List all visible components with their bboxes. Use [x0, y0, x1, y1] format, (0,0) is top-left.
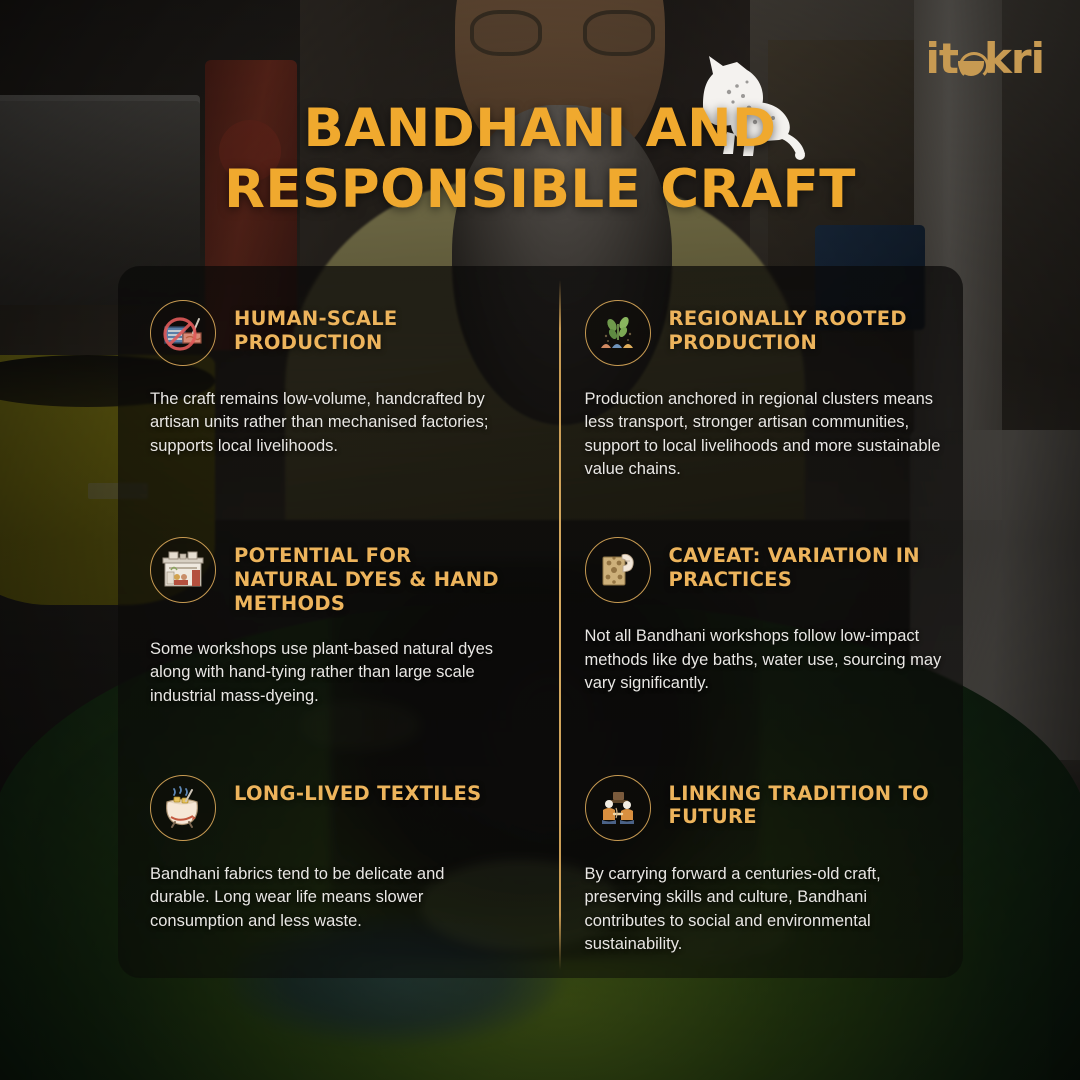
- card-title: POTENTIAL FOR NATURAL DYES & HAND METHOD…: [234, 537, 503, 615]
- card-title: CAVEAT: VARIATION IN PRACTICES: [669, 537, 944, 592]
- card-long-lived-textiles: LONG-LIVED TEXTILES Bandhani fabrics ten…: [118, 741, 541, 978]
- title-line-1: BANDHANI AND: [150, 98, 930, 159]
- card-potential-natural-dyes: POTENTIAL FOR NATURAL DYES & HAND METHOD…: [118, 503, 541, 740]
- card-title: REGIONALLY ROOTED PRODUCTION: [669, 300, 944, 355]
- two-artisans-icon: [585, 775, 651, 841]
- card-body: Bandhani fabrics tend to be delicate and…: [150, 863, 503, 933]
- cards-grid: HUMAN-SCALE PRODUCTION The craft remains…: [118, 266, 963, 978]
- logo-text-it: it: [925, 34, 957, 83]
- no-factory-machine-icon: [150, 300, 216, 366]
- logo-text-kri: kri: [984, 34, 1044, 83]
- content-panel: HUMAN-SCALE PRODUCTION The craft remains…: [118, 266, 963, 978]
- infographic-poster: itkri BANDHANI AND RESPONSIBLE CRAFT: [0, 0, 1080, 1080]
- card-header: LINKING TRADITION TO FUTURE: [585, 775, 944, 841]
- workshop-building-icon: [150, 537, 216, 603]
- card-header: HUMAN-SCALE PRODUCTION: [150, 300, 503, 366]
- card-header: LONG-LIVED TEXTILES: [150, 775, 503, 841]
- seedling-soil-icon: [585, 300, 651, 366]
- brand-logo-itokri[interactable]: itkri: [925, 38, 1044, 80]
- card-body: By carrying forward a centuries-old craf…: [585, 863, 944, 957]
- card-title: HUMAN-SCALE PRODUCTION: [234, 300, 503, 355]
- card-header: REGIONALLY ROOTED PRODUCTION: [585, 300, 944, 366]
- card-header: CAVEAT: VARIATION IN PRACTICES: [585, 537, 944, 603]
- title-line-2: RESPONSIBLE CRAFT: [150, 159, 930, 220]
- card-body: Production anchored in regional clusters…: [585, 388, 944, 482]
- card-linking-tradition-future: LINKING TRADITION TO FUTURE By carrying …: [541, 741, 964, 978]
- basket-o-icon: [958, 50, 984, 76]
- hand-holding-fabric-icon: [585, 537, 651, 603]
- card-title: LONG-LIVED TEXTILES: [234, 775, 482, 806]
- card-regionally-rooted-production: REGIONALLY ROOTED PRODUCTION Production …: [541, 266, 964, 503]
- card-body: Some workshops use plant-based natural d…: [150, 638, 503, 708]
- card-header: POTENTIAL FOR NATURAL DYES & HAND METHOD…: [150, 537, 503, 615]
- steaming-dye-pot-icon: [150, 775, 216, 841]
- card-body: The craft remains low-volume, handcrafte…: [150, 388, 503, 458]
- page-title: BANDHANI AND RESPONSIBLE CRAFT: [0, 98, 1080, 221]
- card-body: Not all Bandhani workshops follow low-im…: [585, 625, 944, 695]
- card-caveat-variation: CAVEAT: VARIATION IN PRACTICES Not all B…: [541, 503, 964, 740]
- card-human-scale-production: HUMAN-SCALE PRODUCTION The craft remains…: [118, 266, 541, 503]
- card-title: LINKING TRADITION TO FUTURE: [669, 775, 944, 830]
